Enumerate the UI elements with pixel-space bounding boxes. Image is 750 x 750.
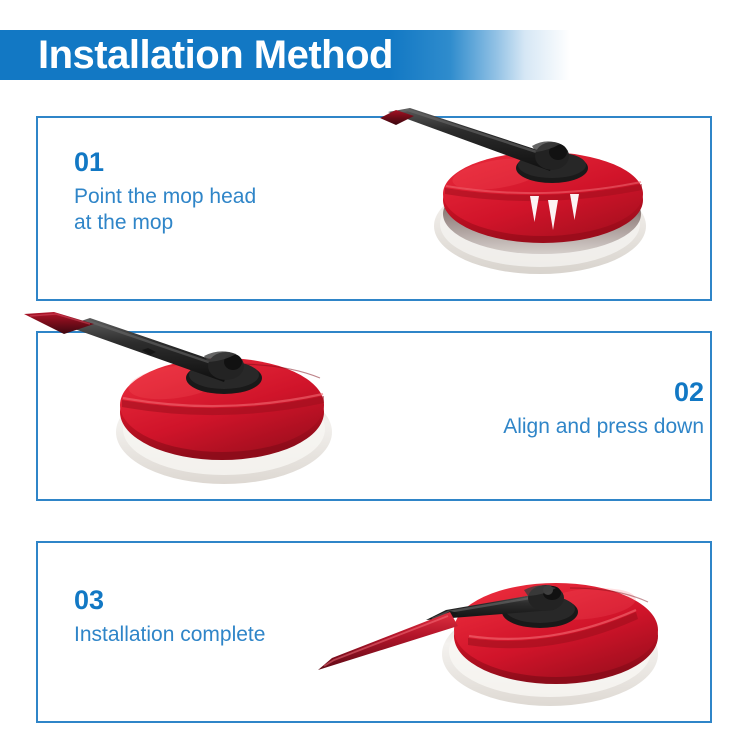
step-description-02: Align and press down xyxy=(503,414,704,440)
step-text-03: 03 Installation complete xyxy=(74,586,265,648)
step-number-01: 01 xyxy=(74,148,256,176)
step-text-02: 02 Align and press down xyxy=(503,378,704,440)
step-description-01: Point the mop head at the mop xyxy=(74,184,256,235)
step-text-01: 01 Point the mop head at the mop xyxy=(74,148,256,236)
step-description-03: Installation complete xyxy=(74,622,265,648)
page-title: Installation Method xyxy=(38,26,393,84)
step-number-02: 02 xyxy=(503,378,704,406)
step-number-03: 03 xyxy=(74,586,265,614)
